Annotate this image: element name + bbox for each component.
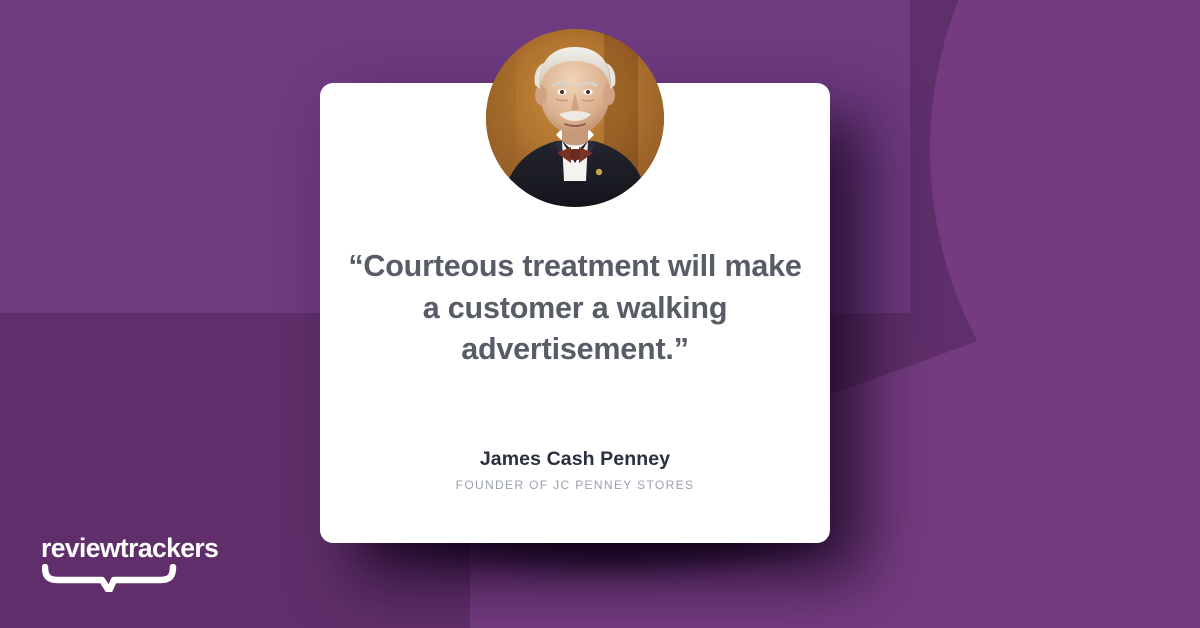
author-title: FOUNDER OF JC PENNEY STORES <box>320 478 830 492</box>
speech-bubble-underline-icon <box>42 564 177 592</box>
quote-text: “Courteous treatment will make a custome… <box>348 246 802 371</box>
brand-logo[interactable]: reviewtrackers <box>41 533 241 592</box>
quote-graphic-canvas: “Courteous treatment will make a custome… <box>0 0 1200 628</box>
author-name: James Cash Penney <box>320 448 830 471</box>
brand-logo-wordmark: reviewtrackers <box>41 533 241 563</box>
portrait-photo <box>486 29 664 207</box>
attribution-block: James Cash Penney FOUNDER OF JC PENNEY S… <box>320 448 830 492</box>
portrait-illustration <box>486 29 664 207</box>
